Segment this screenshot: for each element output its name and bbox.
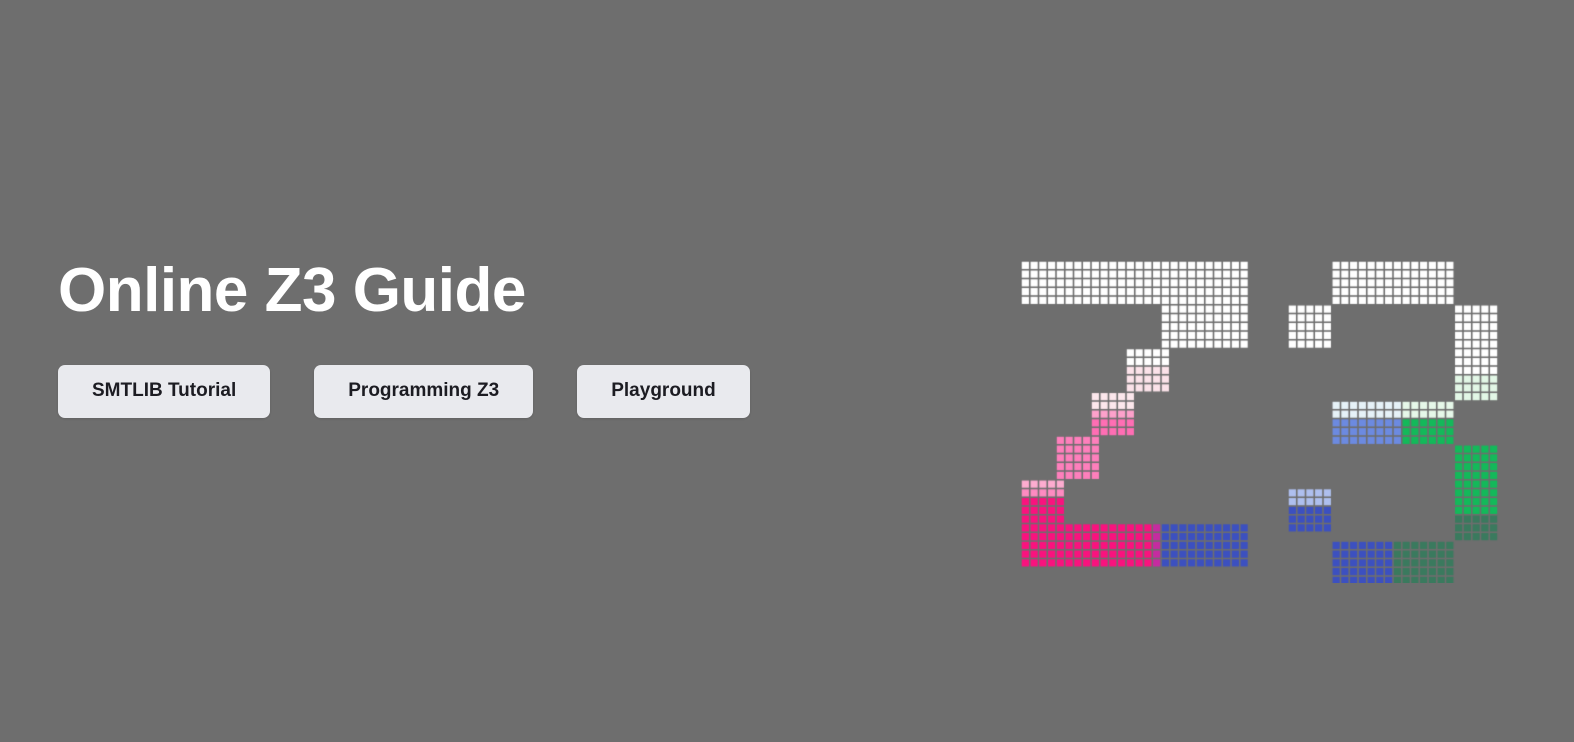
hero-section: Online Z3 Guide SMTLIB Tutorial Programm…: [0, 0, 1574, 742]
logo-glyph-seven-canvas: [1021, 261, 1253, 583]
playground-button[interactable]: Playground: [577, 365, 750, 418]
logo-glyph-three: [1288, 261, 1520, 583]
programming-z3-button[interactable]: Programming Z3: [314, 365, 533, 418]
smtlib-tutorial-button[interactable]: SMTLIB Tutorial: [58, 365, 270, 418]
z3-pixel-logo: [1021, 261, 1520, 583]
hero-button-group: SMTLIB Tutorial Programming Z3 Playgroun…: [58, 365, 750, 418]
logo-glyph-three-canvas: [1288, 261, 1520, 583]
page-title: Online Z3 Guide: [58, 258, 958, 323]
hero-text-block: Online Z3 Guide: [58, 258, 958, 323]
logo-glyph-seven: [1021, 261, 1253, 583]
